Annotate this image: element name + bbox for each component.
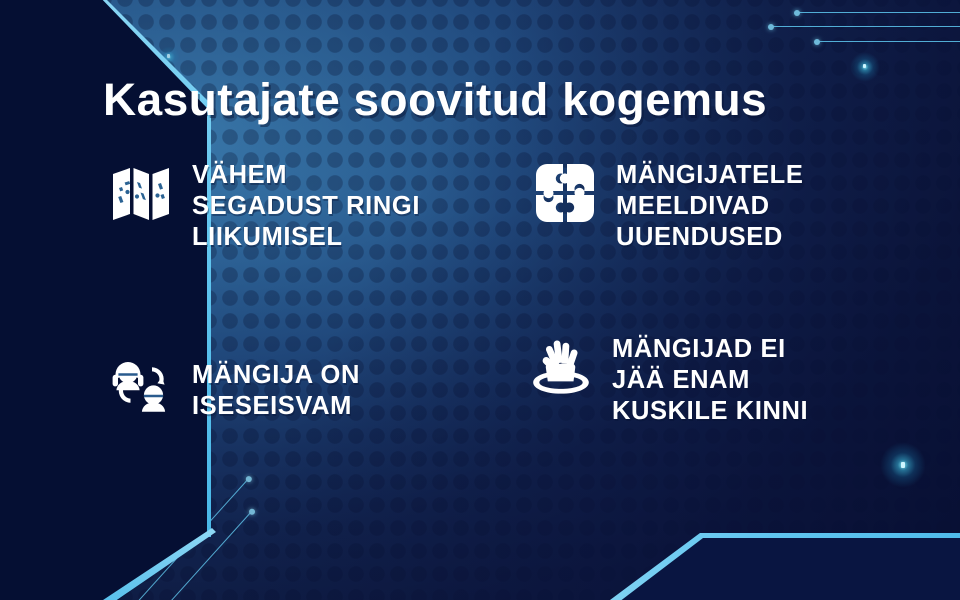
decor-line-top-right-2 xyxy=(771,26,960,27)
feature-item-players-like-updates: MÄNGIJATELE MEELDIVAD UUENDUSED xyxy=(532,160,803,253)
feature-item-less-confusion: VÄHEM SEGADUST RINGI LIIKUMISEL xyxy=(108,160,420,253)
feature-label: VÄHEM SEGADUST RINGI LIIKUMISEL xyxy=(192,160,420,253)
decor-glow-dot-3 xyxy=(850,52,880,82)
hand-stuck-icon xyxy=(528,334,594,400)
slide-canvas: Kasutajate soovitud kogemus xyxy=(0,0,960,600)
puzzle-pieces-icon xyxy=(532,160,598,226)
feature-label: MÄNGIJATELE MEELDIVAD UUENDUSED xyxy=(616,160,803,253)
feature-label: MÄNGIJAD EI JÄÄ ENAM KUSKILE KINNI xyxy=(612,334,808,427)
page-title: Kasutajate soovitud kogemus xyxy=(103,74,767,126)
feature-item-player-independent: MÄNGIJA ON ISESEISVAM xyxy=(108,352,360,422)
decor-line-top-right-3 xyxy=(817,41,960,42)
decor-glow-dot-1 xyxy=(880,442,926,488)
feature-item-players-not-stuck: MÄNGIJAD EI JÄÄ ENAM KUSKILE KINNI xyxy=(528,334,808,427)
folded-map-icon xyxy=(108,160,174,226)
support-handoff-icon xyxy=(108,352,174,418)
feature-label: MÄNGIJA ON ISESEISVAM xyxy=(192,360,360,422)
decor-line-top-right-1 xyxy=(797,12,960,13)
